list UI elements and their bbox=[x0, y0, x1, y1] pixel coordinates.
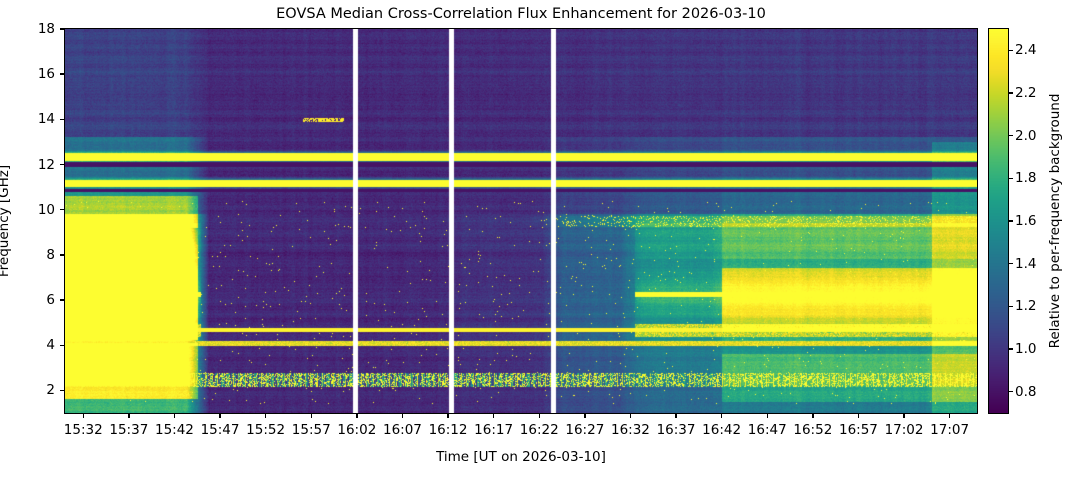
colorbar-tick-label: 2.2 bbox=[1015, 85, 1036, 101]
x-axis-tick-mark bbox=[447, 414, 448, 418]
x-axis-tick-label: 16:17 bbox=[474, 422, 513, 438]
colorbar-tick-mark bbox=[1009, 263, 1013, 264]
y-axis-tick-label: 4 bbox=[0, 337, 55, 353]
y-axis-tick-label: 2 bbox=[0, 382, 55, 398]
x-axis-tick-mark bbox=[584, 414, 585, 418]
x-axis-tick-mark bbox=[539, 414, 540, 418]
x-axis-tick-mark bbox=[630, 414, 631, 418]
x-axis-tick-label: 16:22 bbox=[520, 422, 559, 438]
colorbar-tick-mark bbox=[1009, 50, 1013, 51]
x-axis-tick-label: 15:57 bbox=[292, 422, 331, 438]
x-axis-tick-label: 16:57 bbox=[839, 422, 878, 438]
y-axis-tick-mark bbox=[60, 299, 64, 300]
x-axis-tick-mark bbox=[311, 414, 312, 418]
x-axis-tick-label: 16:12 bbox=[429, 422, 468, 438]
colorbar-tick-label: 1.0 bbox=[1015, 341, 1036, 357]
x-axis-tick-mark bbox=[128, 414, 129, 418]
x-axis-tick-mark bbox=[83, 414, 84, 418]
y-axis-tick-mark bbox=[60, 28, 64, 29]
colorbar-tick-label: 2.4 bbox=[1015, 42, 1036, 58]
x-axis-tick-label: 17:02 bbox=[885, 422, 924, 438]
colorbar-gradient bbox=[989, 29, 1008, 413]
matplotlib-figure: EOVSA Median Cross-Correlation Flux Enha… bbox=[0, 0, 1067, 477]
x-axis-tick-label: 16:27 bbox=[565, 422, 604, 438]
x-axis-tick-label: 16:07 bbox=[383, 422, 422, 438]
y-axis-tick-label: 8 bbox=[0, 247, 55, 263]
y-axis-tick-mark bbox=[60, 73, 64, 74]
dynamic-spectrum-axes bbox=[64, 28, 978, 414]
x-axis-tick-label: 16:47 bbox=[748, 422, 787, 438]
x-axis-tick-mark bbox=[402, 414, 403, 418]
colorbar-label: Relative to per-frequency background bbox=[1047, 94, 1063, 349]
x-axis-tick-mark bbox=[721, 414, 722, 418]
y-axis-tick-mark bbox=[60, 164, 64, 165]
x-axis-tick-mark bbox=[767, 414, 768, 418]
spectrogram-image bbox=[65, 29, 977, 413]
y-axis-tick-label: 16 bbox=[0, 66, 55, 82]
colorbar-tick-mark bbox=[1009, 92, 1013, 93]
colorbar-tick-label: 1.6 bbox=[1015, 213, 1036, 229]
colorbar-tick-label: 2.0 bbox=[1015, 128, 1036, 144]
x-axis-tick-label: 15:42 bbox=[155, 422, 194, 438]
y-axis-tick-label: 12 bbox=[0, 157, 55, 173]
x-axis-tick-mark bbox=[493, 414, 494, 418]
y-axis-tick-mark bbox=[60, 119, 64, 120]
x-axis-tick-label: 15:37 bbox=[109, 422, 148, 438]
colorbar-tick-mark bbox=[1009, 220, 1013, 221]
x-axis-tick-mark bbox=[949, 414, 950, 418]
x-axis-tick-mark bbox=[675, 414, 676, 418]
y-axis-tick-label: 10 bbox=[0, 202, 55, 218]
colorbar-tick-mark bbox=[1009, 135, 1013, 136]
page-title: EOVSA Median Cross-Correlation Flux Enha… bbox=[64, 6, 978, 22]
x-axis-tick-mark bbox=[265, 414, 266, 418]
y-axis-tick-mark bbox=[60, 209, 64, 210]
x-axis-tick-mark bbox=[858, 414, 859, 418]
x-axis-tick-mark bbox=[174, 414, 175, 418]
y-axis-tick-mark bbox=[60, 345, 64, 346]
x-axis-tick-label: 15:52 bbox=[246, 422, 285, 438]
colorbar-tick-mark bbox=[1009, 348, 1013, 349]
y-axis-tick-mark bbox=[60, 254, 64, 255]
x-axis-tick-label: 16:37 bbox=[657, 422, 696, 438]
x-axis-tick-label: 16:32 bbox=[611, 422, 650, 438]
y-axis-tick-label: 6 bbox=[0, 292, 55, 308]
colorbar-tick-label: 1.4 bbox=[1015, 256, 1036, 272]
colorbar-tick-label: 1.8 bbox=[1015, 170, 1036, 186]
y-axis-tick-label: 18 bbox=[0, 21, 55, 37]
y-axis-tick-mark bbox=[60, 390, 64, 391]
x-axis-tick-label: 15:47 bbox=[201, 422, 240, 438]
x-axis-tick-label: 17:07 bbox=[930, 422, 969, 438]
colorbar-tick-mark bbox=[1009, 306, 1013, 307]
x-axis-tick-mark bbox=[356, 414, 357, 418]
colorbar-tick-label: 0.8 bbox=[1015, 384, 1036, 400]
colorbar-tick-mark bbox=[1009, 178, 1013, 179]
x-axis-tick-mark bbox=[219, 414, 220, 418]
x-axis-label: Time [UT on 2026-03-10] bbox=[64, 449, 978, 465]
colorbar-tick-label: 1.2 bbox=[1015, 298, 1036, 314]
x-axis-tick-mark bbox=[812, 414, 813, 418]
x-axis-tick-label: 16:42 bbox=[702, 422, 741, 438]
y-axis-tick-label: 14 bbox=[0, 111, 55, 127]
x-axis-tick-label: 16:52 bbox=[793, 422, 832, 438]
x-axis-tick-label: 15:32 bbox=[64, 422, 103, 438]
x-axis-tick-mark bbox=[903, 414, 904, 418]
colorbar-tick-mark bbox=[1009, 391, 1013, 392]
colorbar bbox=[988, 28, 1009, 414]
x-axis-tick-label: 16:02 bbox=[337, 422, 376, 438]
